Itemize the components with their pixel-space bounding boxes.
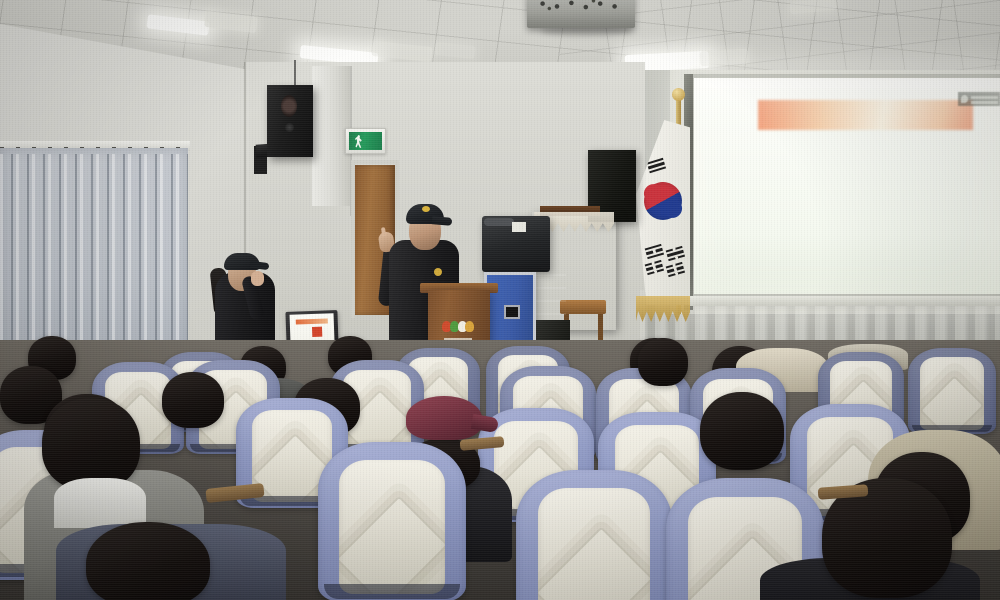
logo-mark-icon [961,95,968,103]
wall-speaker [267,85,313,157]
exit-sign-panel [349,132,382,150]
piano-bench [560,300,606,314]
screen-top-band [694,78,1000,88]
seat[interactable] [516,470,672,600]
presenter-badge [434,268,442,276]
seat-panel [538,488,650,600]
assistant-hand [251,271,264,286]
speaker-driver-icon [281,95,297,117]
laptop-slide-graphic [312,327,322,337]
cap-emblem-icon [422,206,430,212]
cabinet-latch-icon[interactable] [504,305,520,319]
trigram-geon-icon [647,158,667,174]
laptop-slide-header [296,318,328,324]
slide-accent-band [758,100,973,130]
audience-head [162,372,224,428]
audience-head [700,392,784,470]
laptop-screen [290,313,335,342]
audience-head [42,398,140,490]
presenter-cap-brim [432,216,453,226]
speaker-tweeter-icon [285,123,294,132]
podium-emblem-icon [442,318,474,336]
flag-finial-icon [672,88,685,101]
audience-head [86,522,210,600]
seat-panel [339,460,446,594]
seat-panel [920,357,983,429]
seat-piping [324,584,460,598]
monitor-label [512,222,526,232]
screen-bottom-bar [690,296,1000,306]
running-person-icon [355,135,363,148]
monitor-top-handle [484,218,514,226]
audience-head [638,338,688,386]
trigram-gam-icon [645,244,665,260]
lecture-hall-photo [0,0,1000,600]
logo-text-glyphs [971,94,998,104]
taeguk-symbol-icon [640,178,686,224]
slide-logo [958,92,1000,106]
trigram-secondary-icon [666,262,686,278]
projector-vent [533,0,629,12]
maroon-backwards-cap [406,396,482,440]
ceiling-projector [527,0,635,28]
seat[interactable] [908,348,996,434]
seat[interactable] [318,442,466,600]
trigram-gon-icon [645,260,665,276]
audience-collar [54,478,146,528]
emblem-petal [465,321,474,332]
crt-monitor [482,216,550,272]
trigram-ri-icon [666,246,686,262]
ceiling-light-panel [700,49,749,66]
emergency-exit-sign [345,128,386,154]
